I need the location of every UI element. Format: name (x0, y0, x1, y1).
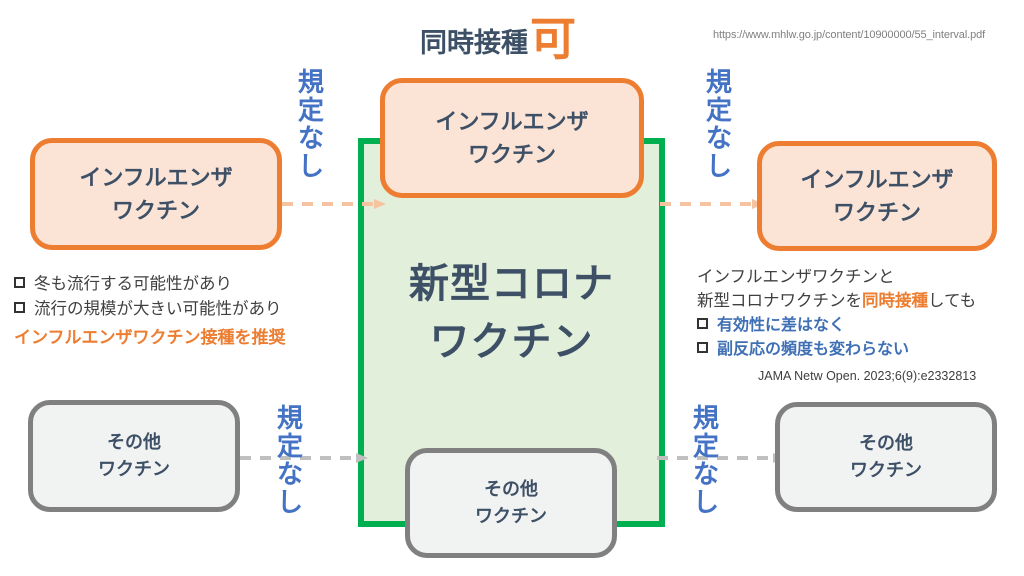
note-left-bullet-2-text: 流行の規模が大きい可能性があり (34, 297, 282, 322)
box-label-line1: インフルエンザ (79, 161, 232, 194)
headline: 同時接種 可 (420, 18, 576, 60)
box-label-line1: その他 (107, 429, 161, 456)
checkbox-icon (14, 302, 25, 313)
interval-char: な (691, 460, 721, 488)
checkbox-icon (697, 342, 708, 353)
note-right-bullet-1: 有効性に差はなく (697, 314, 1017, 338)
headline-emphasis-text: 可 (530, 18, 576, 60)
interval-char: 定 (704, 96, 734, 124)
box-label-line2: ワクチン (98, 456, 170, 483)
interval-char: 定 (691, 432, 721, 460)
interval-label-top-right: 規 定 な し (704, 68, 734, 180)
note-right-block: インフルエンザワクチンと 新型コロナワクチンを同時接種しても 有効性に差はなく … (697, 266, 1017, 362)
box-flu-vaccine-left: インフルエンザ ワクチン (30, 138, 282, 250)
interval-char: 定 (275, 432, 305, 460)
box-label-line2: ワクチン (833, 196, 921, 229)
covid-label-line1: 新型コロナ (358, 255, 665, 313)
note-right-line-1: インフルエンザワクチンと (697, 266, 1017, 290)
arrow-top-left (282, 198, 386, 210)
interval-char: し (704, 152, 734, 180)
mhlw-source-url: https://www.mhlw.go.jp/content/10900000/… (713, 29, 985, 41)
box-label-line2: ワクチン (475, 503, 547, 530)
note-left-recommendation: インフルエンザワクチン接種を推奨 (14, 323, 364, 348)
interval-char: 規 (691, 404, 721, 432)
note-right-line-2-highlight: 同時接種 (862, 292, 928, 310)
box-label-line1: インフルエンザ (435, 105, 588, 138)
note-right-bullet-2-text: 副反応の頻度も変わらない (717, 338, 909, 362)
box-flu-vaccine-top: インフルエンザ ワクチン (380, 78, 644, 198)
interval-char: な (704, 124, 734, 152)
interval-char: な (275, 460, 305, 488)
box-label-line1: その他 (484, 476, 538, 503)
interval-char: し (296, 152, 326, 180)
interval-label-bottom-left: 規 定 な し (275, 404, 305, 516)
box-label-line1: インフルエンザ (800, 163, 953, 196)
note-right-bullet-2: 副反応の頻度も変わらない (697, 338, 1017, 362)
note-left-bullet-2: 流行の規模が大きい可能性があり (14, 297, 364, 322)
box-other-vaccine-bottom: その他 ワクチン (405, 448, 617, 558)
note-right-line-2: 新型コロナワクチンを同時接種しても (697, 290, 1017, 314)
interval-char: し (691, 488, 721, 516)
note-right-line-2-post: しても (928, 292, 976, 310)
jama-citation: JAMA Netw Open. 2023;6(9):e2332813 (758, 369, 976, 383)
box-label-line2: ワクチン (468, 138, 556, 171)
interval-label-bottom-right: 規 定 な し (691, 404, 721, 516)
arrow-bottom-right (657, 452, 785, 464)
note-left-block: 冬も流行する可能性があり 流行の規模が大きい可能性があり インフルエンザワクチン… (14, 272, 364, 348)
interval-char: 規 (275, 404, 305, 432)
interval-char: 規 (296, 68, 326, 96)
interval-char: 規 (704, 68, 734, 96)
infographic-canvas: https://www.mhlw.go.jp/content/10900000/… (0, 0, 1024, 576)
box-label-line2: ワクチン (112, 194, 200, 227)
checkbox-icon (697, 318, 708, 329)
arrow-top-right (660, 198, 764, 210)
covid-vaccine-label: 新型コロナ ワクチン (358, 255, 665, 371)
interval-char: な (296, 124, 326, 152)
box-other-vaccine-right: その他 ワクチン (775, 402, 997, 512)
note-right-line-2-pre: 新型コロナワクチンを (697, 292, 862, 310)
headline-main-text: 同時接種 (420, 30, 528, 60)
interval-char: 定 (296, 96, 326, 124)
box-flu-vaccine-right: インフルエンザ ワクチン (757, 141, 997, 251)
note-right-bullet-1-text: 有効性に差はなく (717, 314, 845, 338)
covid-label-line2: ワクチン (358, 313, 665, 371)
box-other-vaccine-left: その他 ワクチン (28, 400, 240, 512)
note-left-bullet-1: 冬も流行する可能性があり (14, 272, 364, 297)
interval-char: し (275, 488, 305, 516)
note-left-bullet-1-text: 冬も流行する可能性があり (34, 272, 232, 297)
checkbox-icon (14, 277, 25, 288)
interval-label-top-left: 規 定 な し (296, 68, 326, 180)
box-label-line1: その他 (859, 430, 913, 457)
box-label-line2: ワクチン (850, 457, 922, 484)
